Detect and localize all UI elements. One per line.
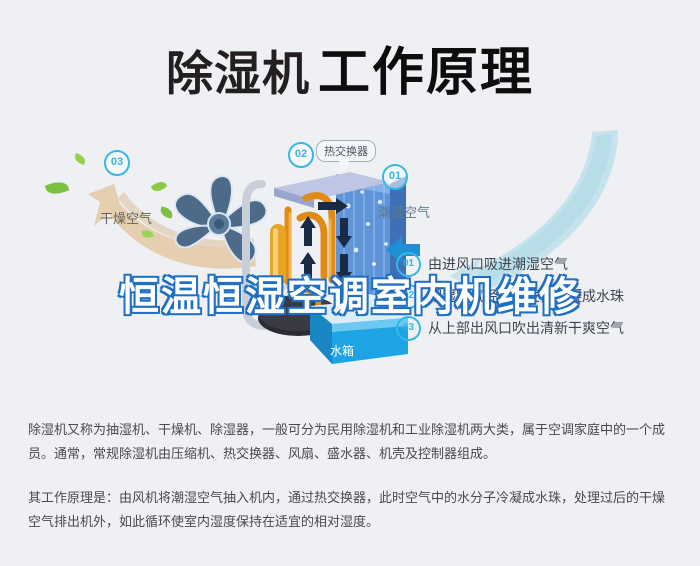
humid-air-label: 潮湿空气 — [378, 202, 430, 221]
body-paragraph-2: 其工作原理是：由风机将潮湿空气抽入机内，通过热交换器，此时空气中的水分子冷凝成水… — [28, 486, 676, 534]
heat-exchanger-callout: 热交换器 — [316, 140, 376, 162]
diagram-badge-03: 03 — [104, 150, 130, 176]
dry-air-label: 干燥空气 — [100, 208, 152, 227]
infographic-page: 除湿机工作原理 — [0, 0, 700, 566]
title-part-light: 除湿机 — [166, 47, 310, 100]
diagram-badge-01: 01 — [382, 164, 408, 190]
page-title: 除湿机工作原理 — [0, 30, 700, 105]
body-paragraph-1: 除湿机又称为抽湿机、干燥机、除湿器，一般可分为民用除湿机和工业除湿机两大类，属于… — [28, 418, 676, 466]
diagram-badge-02: 02 — [288, 142, 314, 168]
title-part-heavy: 工作原理 — [318, 44, 534, 102]
water-tank-label: 水箱 — [330, 342, 354, 359]
watermark-overlay-text: 恒温恒湿空调室内机维修 — [0, 264, 700, 322]
